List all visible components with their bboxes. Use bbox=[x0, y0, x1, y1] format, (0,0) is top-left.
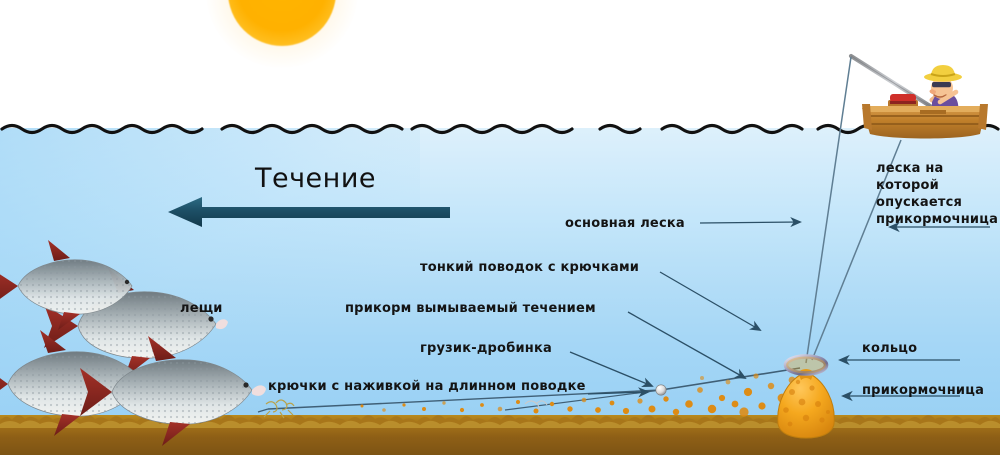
label-thin-leader: тонкий поводок с крючками bbox=[420, 259, 639, 276]
label-feeder: прикормочница bbox=[862, 382, 984, 399]
boat-hull bbox=[862, 104, 988, 139]
label-breams: лещи bbox=[180, 300, 223, 317]
label-drop-line: леска на которой опускается прикормочниц… bbox=[876, 160, 1000, 228]
fishing-diagram: Течение bbox=[0, 0, 1000, 455]
label-main-line: основная леска bbox=[565, 215, 685, 232]
hat-icon bbox=[924, 65, 962, 82]
label-bait-washed: прикорм вымываемый течением bbox=[345, 300, 596, 317]
label-ring: кольцо bbox=[862, 340, 917, 357]
boat-icon bbox=[840, 44, 1000, 144]
label-baited-hooks: крючки с наживкой на длинном поводке bbox=[268, 378, 586, 395]
label-sinker: грузик-дробинка bbox=[420, 340, 552, 357]
